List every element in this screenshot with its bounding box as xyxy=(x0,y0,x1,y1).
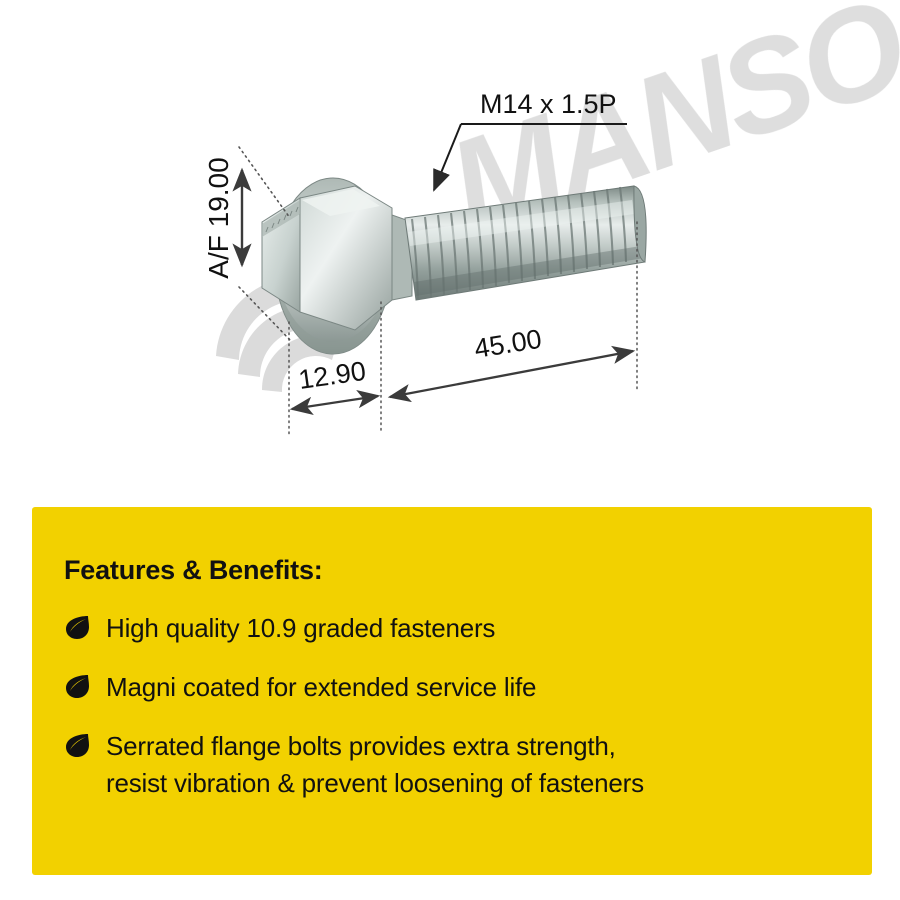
product-image-page: MANSONS xyxy=(0,0,900,900)
bolt-illustration xyxy=(262,178,646,354)
feature-text-line2: resist vibration & prevent loosening of … xyxy=(106,765,644,802)
feature-text-line1: Serrated flange bolts provides extra str… xyxy=(106,731,616,761)
leaf-bullet-icon xyxy=(64,732,90,758)
bolt-technical-diagram: MANSONS xyxy=(0,0,900,500)
feature-text: Magni coated for extended service life xyxy=(106,669,536,706)
feature-text: High quality 10.9 graded fasteners xyxy=(106,610,495,647)
feature-text-multiline: Serrated flange bolts provides extra str… xyxy=(106,728,644,802)
features-benefits-panel: Features & Benefits: High quality 10.9 g… xyxy=(32,507,872,875)
across-flats-label: A/F 19.00 xyxy=(203,157,234,278)
list-item: Magni coated for extended service life xyxy=(64,669,832,706)
features-title: Features & Benefits: xyxy=(64,555,832,586)
thread-length-label: 45.00 xyxy=(472,324,543,364)
leaf-bullet-icon xyxy=(64,614,90,640)
list-item: High quality 10.9 graded fasteners xyxy=(64,610,832,647)
thread-spec-label: M14 x 1.5P xyxy=(480,89,617,119)
list-item: Serrated flange bolts provides extra str… xyxy=(64,728,832,802)
flange-length-label: 12.90 xyxy=(297,356,368,395)
leaf-bullet-icon xyxy=(64,673,90,699)
